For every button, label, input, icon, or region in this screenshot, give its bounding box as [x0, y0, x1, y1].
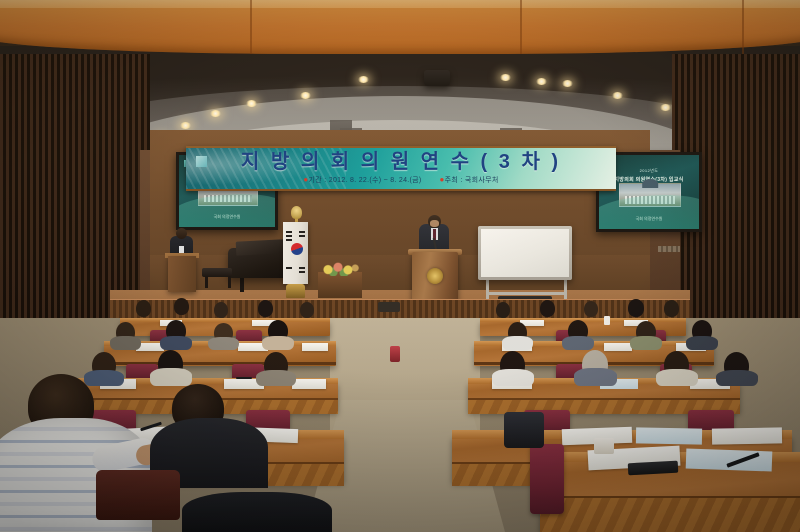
ceiling-wood-highlight: [0, 0, 800, 8]
bag: [96, 470, 180, 520]
flag-trigram: [286, 239, 292, 241]
attendee-body: [182, 492, 332, 532]
attendee-body: [84, 370, 124, 386]
pen: [236, 377, 252, 379]
attendee-body: [502, 336, 533, 350]
banner-period: 기간 : 2012. 8. 22.(수) ~ 8. 24.(금): [309, 177, 422, 184]
attendee: [540, 300, 555, 317]
flag-stand: [286, 284, 305, 298]
bench-leg: [228, 276, 231, 288]
attendee: [664, 300, 679, 317]
attendee-body: [716, 370, 758, 386]
flag-trigram: [299, 267, 305, 269]
flag-trigram: [299, 235, 305, 237]
downlight: [500, 74, 511, 81]
attendee: [214, 302, 228, 318]
attendee: [300, 302, 314, 318]
flag-trigram: [299, 271, 305, 273]
banner-title: 지 방 의 회 의 원 연 수 ( 3 차 ): [186, 151, 616, 173]
wood-seam: [250, 0, 252, 54]
downlight: [358, 76, 369, 83]
floor-monitor: [378, 302, 400, 312]
attendee: [136, 300, 151, 317]
auditorium-scene: 2012년도 지방의회 의원연수(3차) 입교식 국회 의정연수원 2012년도…: [0, 0, 800, 532]
handout-papers: [292, 379, 326, 389]
banner-host: 주최 : 국회사무처: [445, 177, 499, 184]
attendee: [174, 298, 189, 315]
audience-chair: [530, 444, 564, 514]
ceiling-speaker: [424, 70, 450, 86]
downlight: [660, 104, 671, 111]
flag-trigram: [286, 235, 292, 237]
event-banner: 지 방 의 회 의 원 연 수 ( 3 차 ) ●기간 : 2012. 8. 2…: [186, 146, 616, 191]
downlight: [210, 110, 221, 117]
side-lectern: [168, 256, 196, 292]
presenter-head: [176, 228, 187, 239]
downlight: [562, 80, 573, 87]
bag: [504, 412, 544, 448]
attendee-body: [256, 370, 296, 386]
desk-top: [120, 318, 330, 322]
attendee: [584, 301, 598, 317]
bag: [390, 346, 400, 362]
ceiling-wood-soffit: [0, 0, 800, 54]
screen-wave-graphic: [596, 195, 702, 229]
handout-papers: [604, 343, 632, 351]
handout-papers: [686, 449, 773, 472]
attendee: [258, 300, 273, 317]
whiteboard-crossbar: [486, 292, 567, 295]
flag-trigram: [299, 231, 305, 233]
downlight: [536, 78, 547, 85]
wall-sign: [658, 246, 680, 252]
downlight: [300, 92, 311, 99]
attendee-body: [110, 336, 141, 350]
wood-seam: [742, 0, 744, 54]
attendee-body: [208, 337, 239, 350]
handout-papers: [636, 427, 702, 444]
attendee-body: [262, 336, 294, 350]
wood-seam: [520, 0, 522, 54]
whiteboard: [478, 226, 572, 280]
tissue-pack: [594, 438, 614, 454]
attendee-body: [630, 336, 662, 350]
attendee-body: [686, 336, 718, 350]
screen-line3: 국회 의정연수원: [599, 216, 699, 222]
attendee-body: [160, 336, 192, 350]
national-assembly-emblem-icon: [427, 268, 443, 284]
downlight: [180, 122, 191, 129]
downlight: [246, 100, 257, 107]
attendee-body: [562, 336, 594, 350]
handout-papers: [302, 343, 328, 351]
attendee-body: [656, 369, 698, 386]
screen-wave-graphic: [176, 194, 278, 227]
banner-subtitle: ●기간 : 2012. 8. 22.(수) ~ 8. 24.(금) ●주최 : …: [186, 175, 616, 185]
attendee: [496, 302, 510, 318]
attendee-body: [492, 369, 534, 386]
flag-trigram: [286, 267, 292, 269]
attendee-body: [150, 368, 192, 386]
presenter-face: [430, 220, 439, 227]
building-dome: [642, 179, 658, 188]
desk-front-panel: [540, 496, 800, 532]
flag-trigram: [286, 231, 292, 233]
attendee: [628, 299, 644, 317]
downlight: [612, 92, 623, 99]
paper-cup: [604, 316, 610, 325]
flower-arrangement: [320, 260, 360, 276]
flag-finial: [291, 206, 302, 219]
whiteboard-surface: [481, 229, 569, 277]
bench-leg: [205, 276, 208, 288]
screen-line3: 국회 의정연수원: [179, 214, 275, 220]
attendee-body: [574, 368, 617, 386]
handout-papers: [712, 427, 782, 444]
taeguk-symbol: [291, 243, 303, 255]
